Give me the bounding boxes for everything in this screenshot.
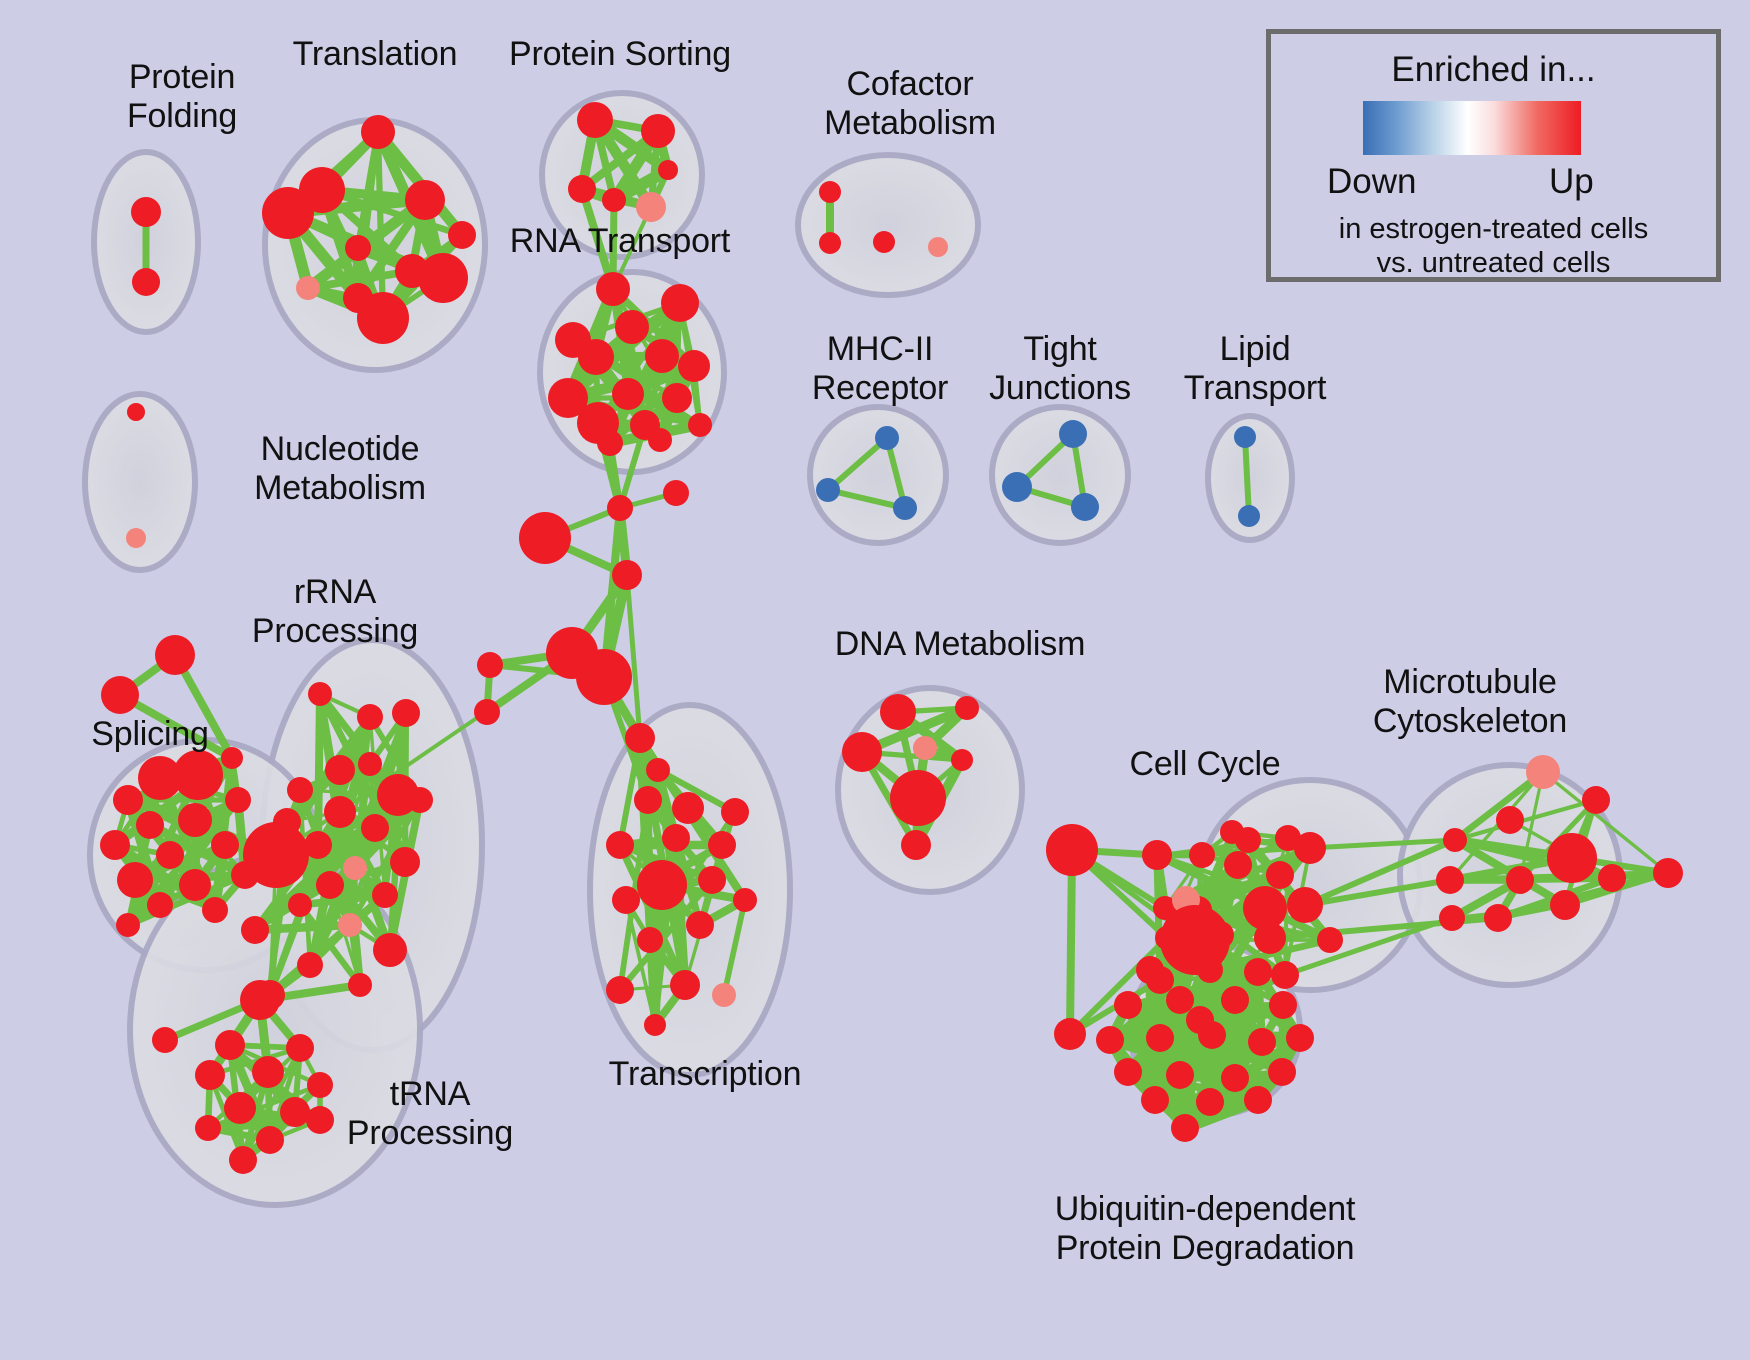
network-node — [678, 350, 710, 382]
network-node — [1234, 426, 1256, 448]
network-node — [173, 750, 223, 800]
network-node — [873, 231, 895, 253]
network-node — [951, 749, 973, 771]
network-node — [1059, 420, 1087, 448]
network-node — [280, 1097, 310, 1127]
network-node — [1248, 1028, 1276, 1056]
network-node — [147, 892, 173, 918]
network-node — [645, 339, 679, 373]
network-node — [178, 803, 212, 837]
network-node — [893, 496, 917, 520]
network-node — [662, 824, 690, 852]
cluster-label-protein-sorting: Protein Sorting — [440, 35, 800, 74]
network-node — [1244, 1086, 1272, 1114]
network-node — [316, 871, 344, 899]
cluster-label-rna-transport: RNA Transport — [440, 222, 800, 261]
network-node — [606, 831, 634, 859]
network-node — [132, 268, 160, 296]
network-node — [1141, 1086, 1169, 1114]
network-node — [1238, 505, 1260, 527]
legend-subtitle: in estrogen-treated cells vs. untreated … — [1271, 212, 1716, 280]
network-node — [721, 798, 749, 826]
network-node — [308, 682, 332, 706]
network-node — [100, 830, 130, 860]
network-node — [358, 752, 382, 776]
cluster-label-ubiquitin-protein-degradation: Ubiquitin-dependent Protein Degradation — [975, 1190, 1435, 1268]
network-node — [663, 480, 689, 506]
network-node — [1496, 806, 1524, 834]
cluster-label-cell-cycle: Cell Cycle — [1075, 745, 1335, 784]
network-node — [662, 383, 692, 413]
network-node — [641, 114, 675, 148]
network-node — [325, 755, 355, 785]
network-node — [343, 856, 367, 880]
cluster-label-transcription: Transcription — [555, 1055, 855, 1094]
network-node — [1484, 904, 1512, 932]
network-node — [1196, 1088, 1224, 1116]
network-node — [262, 187, 314, 239]
network-node — [819, 232, 841, 254]
network-node — [240, 980, 280, 1020]
network-node — [596, 272, 630, 306]
network-node — [1114, 1058, 1142, 1086]
network-node — [519, 512, 571, 564]
network-edge — [1070, 850, 1072, 1034]
network-node — [324, 796, 356, 828]
network-node — [1198, 1021, 1226, 1049]
network-node — [361, 115, 395, 149]
network-node — [646, 758, 670, 782]
network-node — [1191, 948, 1219, 976]
network-node — [1526, 755, 1560, 789]
network-node — [1547, 833, 1597, 883]
network-node — [644, 1014, 666, 1036]
network-node — [1317, 927, 1343, 953]
network-node — [1171, 1114, 1199, 1142]
network-node — [913, 736, 937, 760]
network-node — [156, 841, 184, 869]
network-node — [634, 786, 662, 814]
network-node — [708, 831, 736, 859]
network-node — [901, 830, 931, 860]
legend-low-label: Down — [1327, 162, 1416, 202]
network-node — [672, 792, 704, 824]
network-node — [688, 413, 712, 437]
network-node — [155, 635, 195, 675]
network-node — [195, 1060, 225, 1090]
cluster-ellipse-mhc-ii-receptor — [810, 407, 946, 543]
network-node — [131, 197, 161, 227]
network-node — [1054, 1018, 1086, 1050]
network-node — [1266, 861, 1294, 889]
cluster-label-lipid-transport: Lipid Transport — [1150, 330, 1360, 408]
network-node — [1439, 905, 1465, 931]
network-node — [101, 676, 139, 714]
network-edge — [1245, 437, 1249, 516]
network-node — [636, 192, 666, 222]
network-node — [819, 181, 841, 203]
network-node — [1146, 1024, 1174, 1052]
network-node — [224, 1092, 256, 1124]
network-node — [1220, 820, 1244, 844]
network-node — [338, 913, 362, 937]
cluster-label-trna-processing: tRNA Processing — [310, 1075, 550, 1153]
network-node — [1221, 1064, 1249, 1092]
network-node — [1224, 851, 1252, 879]
network-node — [612, 560, 642, 590]
network-node — [597, 430, 623, 456]
network-node — [287, 777, 313, 803]
network-node — [286, 1034, 314, 1062]
network-node — [1166, 1061, 1194, 1089]
cluster-label-cofactor-metabolism: Cofactor Metabolism — [760, 65, 1060, 143]
network-node — [392, 699, 420, 727]
network-node — [1271, 961, 1299, 989]
network-node — [113, 785, 143, 815]
network-node — [576, 649, 632, 705]
network-node — [670, 970, 700, 1000]
network-node — [686, 911, 714, 939]
network-node — [1244, 958, 1272, 986]
network-node — [1268, 1058, 1296, 1086]
network-node — [816, 478, 840, 502]
network-node — [880, 694, 916, 730]
network-node — [648, 428, 672, 452]
network-node — [202, 897, 228, 923]
network-node — [229, 1146, 257, 1174]
network-node — [842, 732, 882, 772]
network-node — [241, 916, 269, 944]
network-node — [1136, 956, 1164, 984]
network-node — [136, 811, 164, 839]
network-node — [1275, 825, 1301, 851]
network-node — [602, 188, 626, 212]
network-node — [658, 160, 678, 180]
network-node — [231, 861, 259, 889]
network-node — [1254, 922, 1286, 954]
network-node — [126, 528, 146, 548]
network-node — [1287, 887, 1323, 923]
network-node — [357, 292, 409, 344]
network-node — [1269, 991, 1297, 1019]
network-node — [357, 704, 383, 730]
network-node — [390, 847, 420, 877]
network-node — [373, 933, 407, 967]
network-node — [345, 235, 371, 261]
network-node — [568, 175, 596, 203]
network-node — [1114, 991, 1142, 1019]
network-node — [577, 102, 613, 138]
network-node — [1653, 858, 1683, 888]
network-node — [1071, 493, 1099, 521]
cluster-label-splicing: Splicing — [50, 715, 250, 754]
network-node — [1443, 828, 1467, 852]
network-node — [637, 860, 687, 910]
network-node — [612, 886, 640, 914]
network-node — [712, 983, 736, 1007]
network-node — [297, 952, 323, 978]
cluster-ellipse-cofactor-metabolism — [798, 155, 978, 295]
network-node — [215, 1030, 245, 1060]
network-node — [1142, 840, 1172, 870]
network-node — [875, 426, 899, 450]
network-node — [474, 699, 500, 725]
network-node — [1166, 986, 1194, 1014]
network-node — [1189, 842, 1215, 868]
cluster-label-rrna-processing: rRNA Processing — [215, 573, 455, 651]
network-node — [407, 787, 433, 813]
network-node — [1096, 1026, 1124, 1054]
network-node — [637, 927, 663, 953]
network-node — [615, 310, 649, 344]
network-node — [928, 237, 948, 257]
network-node — [296, 276, 320, 300]
network-node — [1436, 866, 1464, 894]
network-node — [1286, 1024, 1314, 1052]
network-node — [225, 787, 251, 813]
network-node — [661, 284, 699, 322]
network-node — [195, 1115, 221, 1141]
network-node — [1582, 786, 1610, 814]
network-edge — [255, 925, 350, 930]
network-node — [116, 913, 140, 937]
network-node — [1598, 864, 1626, 892]
network-node — [252, 1056, 284, 1088]
network-node — [127, 403, 145, 421]
cluster-label-microtubule-cytoskeleton: Microtubule Cytoskeleton — [1300, 663, 1640, 741]
network-figure: Protein FoldingTranslationProtein Sortin… — [0, 0, 1750, 1360]
network-node — [256, 1126, 284, 1154]
legend-box: Enriched in... Down Up in estrogen-treat… — [1266, 29, 1721, 282]
network-node — [607, 495, 633, 521]
network-node — [733, 888, 757, 912]
network-node — [372, 882, 398, 908]
network-node — [211, 831, 239, 859]
legend-high-label: Up — [1549, 162, 1594, 202]
cluster-label-dna-metabolism: DNA Metabolism — [800, 625, 1120, 664]
network-node — [179, 869, 211, 901]
legend-color-bar — [1363, 101, 1581, 155]
legend-title: Enriched in... — [1271, 50, 1716, 90]
network-node — [361, 814, 389, 842]
network-node — [612, 378, 644, 410]
cluster-label-tight-junctions: Tight Junctions — [955, 330, 1165, 408]
network-node — [1550, 890, 1580, 920]
network-node — [1002, 472, 1032, 502]
cluster-label-nucleotide-metabolism: Nucleotide Metabolism — [190, 430, 490, 508]
network-node — [117, 862, 153, 898]
network-node — [578, 339, 614, 375]
network-node — [1221, 986, 1249, 1014]
network-node — [890, 770, 946, 826]
network-node — [477, 652, 503, 678]
network-node — [955, 696, 979, 720]
network-node — [405, 180, 445, 220]
network-node — [348, 973, 372, 997]
network-node — [1506, 866, 1534, 894]
network-node — [1046, 824, 1098, 876]
network-node — [606, 976, 634, 1004]
network-node — [152, 1027, 178, 1053]
network-node — [625, 723, 655, 753]
network-node — [698, 866, 726, 894]
network-node — [288, 893, 312, 917]
